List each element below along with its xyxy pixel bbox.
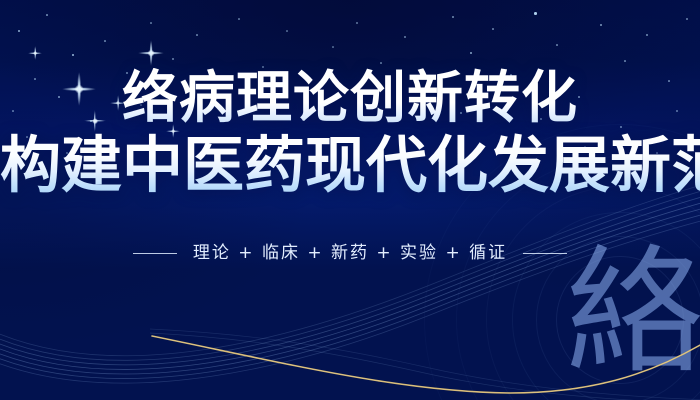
promo-banner: 絡 络病理论创新转化 构建中医药现代化发展新范式 理论 + 临床 + 新 [0, 0, 700, 400]
background-vignette [0, 0, 700, 400]
